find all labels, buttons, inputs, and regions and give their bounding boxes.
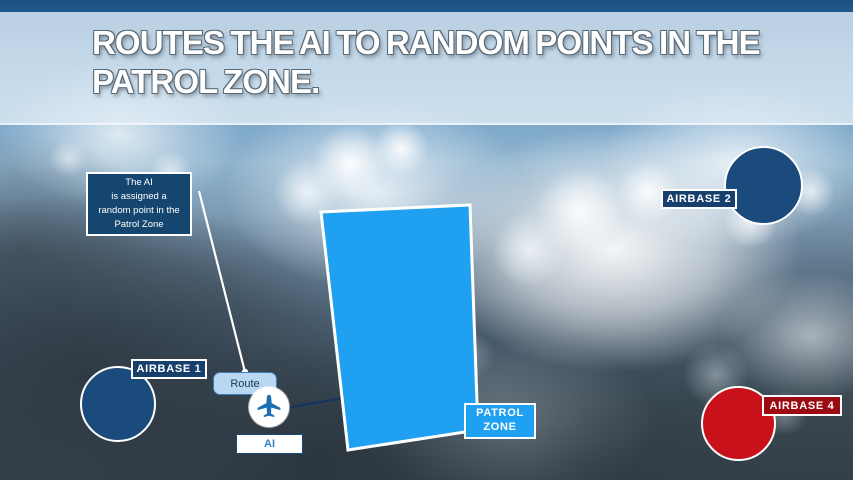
airbase-1-label-text: AIRBASE 1 xyxy=(137,363,202,375)
random-point-callout[interactable]: The AI is assigned a random point in the… xyxy=(86,172,192,236)
top-accent-strip xyxy=(0,0,853,12)
title-band-divider xyxy=(0,123,853,125)
ai-jet-badge[interactable] xyxy=(249,387,289,427)
airbase-2-circle[interactable] xyxy=(724,146,803,225)
ai-label[interactable]: AI xyxy=(236,434,303,454)
patrol-zone-label-line2: ZONE xyxy=(483,421,516,435)
callout-text: The AI is assigned a random point in the… xyxy=(98,176,179,231)
route-box-text: Route xyxy=(230,378,259,390)
slide-canvas: ROUTES THE AI TO RANDOM POINTS IN THE PA… xyxy=(0,0,853,480)
page-title: ROUTES THE AI TO RANDOM POINTS IN THE PA… xyxy=(92,24,792,102)
patrol-zone-shape[interactable] xyxy=(310,202,485,462)
patrol-zone-label[interactable]: PATROL ZONE xyxy=(464,403,536,439)
ai-label-text: AI xyxy=(264,438,275,450)
airbase-4-label[interactable]: AIRBASE 4 xyxy=(762,395,842,416)
airbase-1-label[interactable]: AIRBASE 1 xyxy=(131,359,207,379)
fighter-jet-icon xyxy=(254,392,284,422)
airbase-4-label-text: AIRBASE 4 xyxy=(770,400,835,412)
airbase-2-label-text: AIRBASE 2 xyxy=(667,193,732,205)
airbase-2-label[interactable]: AIRBASE 2 xyxy=(661,189,737,209)
patrol-zone-label-line1: PATROL xyxy=(476,407,524,421)
